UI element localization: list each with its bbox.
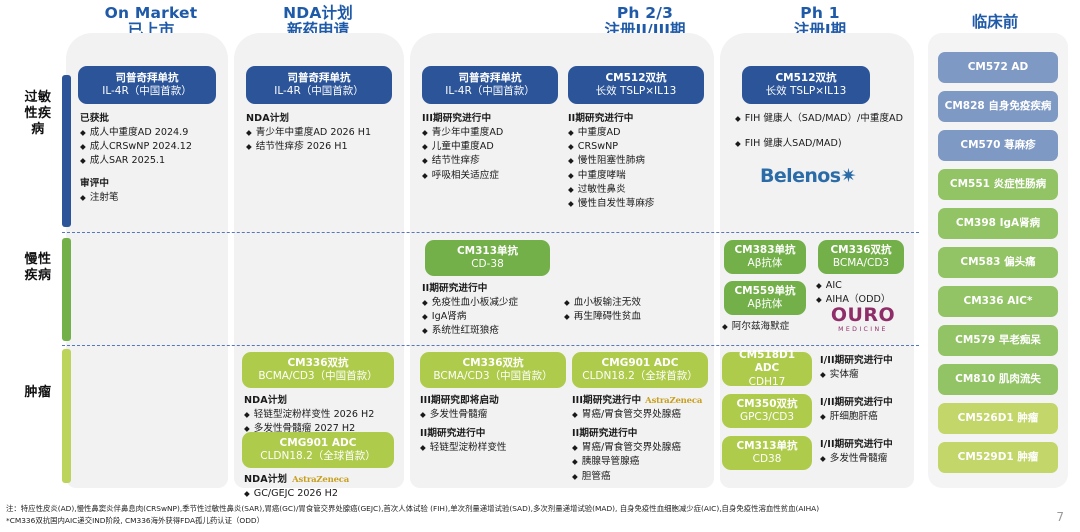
chip-name: CM383单抗: [734, 244, 795, 257]
detail-ph23-allergy-cm512: II期研究进行中 ◆中重度AD ◆CRSwNP ◆慢性阻塞性肺病 ◆中重度哮喘 …: [568, 110, 708, 211]
diamond-bullet-icon: ◆: [735, 112, 741, 125]
detail-nda-allergy: NDA计划 ◆青少年中重度AD 2026 H1 ◆结节性痒疹 2026 H1: [246, 110, 398, 154]
detail-ph23-tumor-cmg901: III期研究进行中 AstraZeneca ◆胃癌/胃食管交界处腺癌 II期研究…: [572, 392, 712, 484]
drug-chip-nda-allergy[interactable]: 司普奇拜单抗 IL-4R（中国首款）: [246, 66, 392, 104]
row-rail-allergy: [62, 75, 71, 227]
diamond-bullet-icon: ◆: [572, 441, 578, 454]
preclinical-item-6[interactable]: CM336 AIC*: [938, 286, 1058, 317]
chip-target: 长效 TSLP×IL13: [766, 85, 847, 98]
drug-chip-ph1-chronic-cm336[interactable]: CM336双抗 BCMA/CD3: [818, 240, 904, 274]
group-title: NDA计划: [246, 110, 398, 124]
chip-target: CD-38: [471, 258, 504, 271]
preclinical-label: CM828 自身免疫疾病: [945, 100, 1052, 113]
bullet-item: ◆结节性痒疹: [422, 154, 556, 168]
preclinical-label: CM570 荨麻疹: [960, 139, 1035, 152]
row-label-tumor: 肿瘤: [24, 385, 52, 401]
chip-target: IL-4R（中国首款）: [102, 85, 192, 98]
chip-target: CDH17: [749, 376, 786, 389]
chip-target: CLDN18.2（全球首款）: [582, 370, 698, 383]
diamond-bullet-icon: ◆: [422, 126, 428, 139]
chip-name: CM350双抗: [736, 398, 797, 411]
drug-chip-ph23-tumor-cmg901[interactable]: CMG901 ADC CLDN18.2（全球首款）: [572, 352, 708, 388]
ouro-medicine-logo: OURO MEDICINE: [816, 304, 910, 333]
detail-ph1-tumor-cm313: I/II期研究进行中 ◆多发性骨髓瘤: [820, 436, 912, 466]
bullet-item: ◆结节性痒疹 2026 H1: [246, 140, 398, 154]
detail-ph1-tumor-cm350: I/II期研究进行中 ◆肝细胞肝癌: [820, 394, 912, 424]
belenos-logo: Belenos✷: [760, 165, 880, 187]
astrazeneca-logo: AstraZeneca: [292, 475, 349, 485]
drug-chip-ph1-tumor-cm518d1[interactable]: CM518D1 ADC CDH17: [722, 352, 812, 386]
page-number: 7: [1056, 510, 1064, 524]
bullet-item: ◆CRSwNP: [568, 140, 708, 154]
chip-target: CLDN18.2（全球首款）: [260, 450, 376, 463]
column-header-cn: 临床前: [920, 14, 1070, 31]
ouro-logo-text: OURO: [816, 304, 910, 326]
preclinical-item-4[interactable]: CM398 IgA肾病: [938, 208, 1058, 239]
diamond-bullet-icon: ◆: [422, 140, 428, 153]
diamond-bullet-icon: ◆: [572, 408, 578, 421]
diamond-bullet-icon: ◆: [820, 368, 826, 381]
drug-chip-ph1-tumor-cm313[interactable]: CM313单抗 CD38: [722, 436, 812, 470]
belenos-burst-icon: ✷: [840, 165, 855, 187]
diamond-bullet-icon: ◆: [568, 183, 574, 196]
diamond-bullet-icon: ◆: [80, 140, 86, 153]
group-title: I/II期研究进行中: [820, 394, 912, 408]
chip-name: CM313单抗: [736, 440, 797, 453]
preclinical-item-1[interactable]: CM828 自身免疫疾病: [938, 91, 1058, 122]
preclinical-item-5[interactable]: CM583 偏头痛: [938, 247, 1058, 278]
preclinical-label: CM398 IgA肾病: [956, 217, 1040, 230]
bullet-item: ◆再生障碍性贫血: [564, 310, 694, 324]
detail-ph1-allergy: ◆FIH 健康人（SAD/MAD）/中重度AD ◆FIH 健康人SAD/MAD): [735, 112, 907, 151]
diamond-bullet-icon: ◆: [244, 487, 250, 500]
bullet-item: ◆多发性骨髓瘤: [820, 452, 912, 466]
chip-target: BCMA/CD3（中国首款）: [258, 370, 377, 383]
diamond-bullet-icon: ◆: [422, 169, 428, 182]
group-title: NDA计划: [244, 392, 400, 406]
bullet-item: ◆FIH 健康人SAD/MAD): [735, 137, 907, 151]
preclinical-item-10[interactable]: CM529D1 肿瘤: [938, 442, 1058, 473]
diamond-bullet-icon: ◆: [568, 197, 574, 210]
pipeline-slide: On Market 已上市 NDA计划 新药申请 Ph 2/3 注册II/III…: [0, 0, 1080, 532]
chip-name: CMG901 ADC: [602, 357, 679, 370]
diamond-bullet-icon: ◆: [80, 191, 86, 204]
footnote-line-1: 注：特应性皮炎(AD),慢性鼻窦炎伴鼻息肉(CRSwNP),季节性过敏性鼻炎(S…: [6, 503, 1006, 514]
drug-chip-ph1-chronic-cm559[interactable]: CM559单抗 Aβ抗体: [724, 281, 806, 315]
diamond-bullet-icon: ◆: [564, 310, 570, 323]
bullet-item: ◆胆管癌: [572, 470, 712, 484]
group-title: 已获批: [80, 110, 220, 124]
detail-ph23-tumor-cm336: III期研究即将启动 ◆多发性骨髓瘤 II期研究进行中 ◆轻链型淀粉样变性: [420, 392, 566, 455]
drug-chip-ph23-allergy-sipu[interactable]: 司普奇拜单抗 IL-4R（中国首款）: [422, 66, 558, 104]
preclinical-label: CM583 偏头痛: [960, 256, 1035, 269]
chip-target: IL-4R（中国首款）: [445, 85, 535, 98]
bullet-item: ◆肝细胞肝癌: [820, 410, 912, 424]
bullet-item: ◆胃癌/胃食管交界处腺癌: [572, 408, 712, 422]
preclinical-item-9[interactable]: CM526D1 肿瘤: [938, 403, 1058, 434]
diamond-bullet-icon: ◆: [572, 470, 578, 483]
bullet-item: ◆多发性骨髓瘤: [420, 408, 566, 422]
chip-target: Aβ抗体: [748, 298, 783, 311]
chip-name: CMG901 ADC: [280, 437, 357, 450]
chip-name: CM336双抗: [287, 357, 348, 370]
row-label-chronic: 慢性疾病: [24, 252, 52, 284]
bullet-item: ◆实体瘤: [820, 368, 912, 382]
row-separator-1: [62, 232, 919, 233]
chip-name: CM512双抗: [775, 72, 836, 85]
row-rail-tumor: [62, 349, 71, 483]
preclinical-item-7[interactable]: CM579 早老痴呆: [938, 325, 1058, 356]
drug-chip-ph23-chronic-cm313[interactable]: CM313单抗 CD-38: [425, 240, 550, 276]
bullet-item: ◆成人SAR 2025.1: [80, 154, 220, 168]
group-title: NDA计划: [244, 471, 287, 485]
preclinical-label: CM551 炎症性肠病: [950, 178, 1046, 191]
detail-ph23-allergy-sipu: III期研究进行中 ◆青少年中重度AD ◆儿童中重度AD ◆结节性痒疹 ◆呼吸相…: [422, 110, 556, 183]
diamond-bullet-icon: ◆: [820, 452, 826, 465]
preclinical-item-0[interactable]: CM572 AD: [938, 52, 1058, 83]
detail-nda-tumor-cm336: NDA计划 ◆轻链型淀粉样变性 2026 H2 ◆多发性骨髓瘤 2027 H2: [244, 392, 400, 436]
diamond-bullet-icon: ◆: [568, 154, 574, 167]
bullet-item: ◆轻链型淀粉样变性: [420, 441, 566, 455]
preclinical-label: CM529D1 肿瘤: [958, 451, 1039, 464]
diamond-bullet-icon: ◆: [816, 279, 822, 292]
bullet-item: ◆AIC: [816, 279, 910, 293]
diamond-bullet-icon: ◆: [246, 126, 252, 139]
bullet-item: ◆系统性红斑狼疮: [422, 324, 554, 338]
group-title: I/II期研究进行中: [820, 436, 912, 450]
bullet-item: ◆胰腺导管腺癌: [572, 455, 712, 469]
chip-target: IL-4R（中国首款）: [274, 85, 364, 98]
row-label-allergy: 过敏性疾病: [24, 90, 52, 138]
bullet-item: ◆过敏性鼻炎: [568, 183, 708, 197]
diamond-bullet-icon: ◆: [246, 140, 252, 153]
bullet-item: ◆注射笔: [80, 191, 220, 205]
diamond-bullet-icon: ◆: [568, 169, 574, 182]
bullet-item: ◆呼吸相关适应症: [422, 169, 556, 183]
detail-nda-tumor-cmg901: NDA计划 AstraZeneca ◆GC/GEJC 2026 H2: [244, 471, 400, 501]
preclinical-label: CM810 肌肉流失: [955, 373, 1041, 386]
footnote-line-2: *CM336双抗国内AIC递交IND阶段, CM336海外获得FDA孤儿药认证（…: [6, 515, 1006, 526]
bullet-item: ◆胃癌/胃食管交界处腺癌: [572, 441, 712, 455]
diamond-bullet-icon: ◆: [80, 154, 86, 167]
diamond-bullet-icon: ◆: [422, 324, 428, 337]
bullet-item: ◆慢性自发性荨麻疹: [568, 197, 708, 211]
bullet-item: ◆成人中重度AD 2024.9: [80, 126, 220, 140]
drug-chip-ph1-allergy-cm512[interactable]: CM512双抗 长效 TSLP×IL13: [742, 66, 870, 104]
bullet-item: ◆中重度AD: [568, 126, 708, 140]
chip-name: CM313单抗: [457, 245, 518, 258]
chip-target: BCMA/CD3（中国首款）: [433, 370, 552, 383]
bullet-item: ◆儿童中重度AD: [422, 140, 556, 154]
bullet-item: ◆GC/GEJC 2026 H2: [244, 487, 400, 501]
diamond-bullet-icon: ◆: [820, 410, 826, 423]
diamond-bullet-icon: ◆: [420, 408, 426, 421]
chip-target: GPC3/CD3: [740, 411, 794, 424]
column-header-en: Ph 2/3: [560, 5, 730, 22]
bullet-item: ◆成人CRSwNP 2024.12: [80, 140, 220, 154]
diamond-bullet-icon: ◆: [422, 296, 428, 309]
row-rail-chronic: [62, 238, 71, 341]
footnote: 注：特应性皮炎(AD),慢性鼻窦炎伴鼻息肉(CRSwNP),季节性过敏性鼻炎(S…: [6, 503, 1006, 526]
detail-ph1-tumor-cm518d1: I/II期研究进行中 ◆实体瘤: [820, 352, 912, 382]
group-title: III期研究即将启动: [420, 392, 566, 406]
diamond-bullet-icon: ◆: [568, 126, 574, 139]
bullet-item: ◆免疫性血小板减少症: [422, 296, 554, 310]
chip-name: CM559单抗: [734, 285, 795, 298]
diamond-bullet-icon: ◆: [564, 296, 570, 309]
column-header-en: On Market: [66, 5, 236, 22]
astrazeneca-logo: AstraZeneca: [645, 396, 702, 406]
group-title: II期研究进行中: [422, 280, 707, 294]
diamond-bullet-icon: ◆: [420, 441, 426, 454]
diamond-bullet-icon: ◆: [572, 455, 578, 468]
chip-name: 司普奇拜单抗: [116, 72, 179, 85]
diamond-bullet-icon: ◆: [422, 310, 428, 323]
drug-chip-ph23-tumor-cm336[interactable]: CM336双抗 BCMA/CD3（中国首款）: [420, 352, 566, 388]
bullet-item: ◆中重度哮喘: [568, 169, 708, 183]
chip-name: CM512双抗: [605, 72, 666, 85]
chip-name: 司普奇拜单抗: [459, 72, 522, 85]
preclinical-item-2[interactable]: CM570 荨麻疹: [938, 130, 1058, 161]
preclinical-label: CM336 AIC*: [964, 295, 1033, 308]
diamond-bullet-icon: ◆: [80, 126, 86, 139]
bullet-item: ◆慢性阻塞性肺病: [568, 154, 708, 168]
drug-chip-ph1-tumor-cm350[interactable]: CM350双抗 GPC3/CD3: [722, 394, 812, 428]
diamond-bullet-icon: ◆: [722, 320, 728, 333]
preclinical-label: CM526D1 肿瘤: [958, 412, 1039, 425]
group-title: II期研究进行中: [568, 110, 708, 124]
preclinical-item-8[interactable]: CM810 肌肉流失: [938, 364, 1058, 395]
bullet-item: ◆青少年中重度AD 2026 H1: [246, 126, 398, 140]
column-header-en: Ph 1: [735, 5, 905, 22]
diamond-bullet-icon: ◆: [568, 140, 574, 153]
group-title: I/II期研究进行中: [820, 352, 912, 366]
bullet-item: ◆FIH 健康人（SAD/MAD）/中重度AD: [735, 112, 907, 126]
group-title: 审评中: [80, 175, 220, 189]
diamond-bullet-icon: ◆: [244, 408, 250, 421]
drug-chip-onmarket-allergy[interactable]: 司普奇拜单抗 IL-4R（中国首款）: [78, 66, 216, 104]
chip-name: 司普奇拜单抗: [288, 72, 351, 85]
chip-target: 长效 TSLP×IL13: [596, 85, 677, 98]
preclinical-item-3[interactable]: CM551 炎症性肠病: [938, 169, 1058, 200]
group-title: III期研究进行中: [572, 392, 641, 406]
chip-target: BCMA/CD3: [833, 257, 889, 270]
preclinical-label: CM572 AD: [968, 61, 1029, 74]
bullet-item: ◆青少年中重度AD: [422, 126, 556, 140]
bullet-item: ◆IgA肾病: [422, 310, 554, 324]
drug-chip-nda-tumor-cmg901[interactable]: CMG901 ADC CLDN18.2（全球首款）: [242, 432, 394, 468]
belenos-logo-text: Belenos: [760, 165, 840, 187]
row-separator-2: [62, 345, 919, 346]
group-title: II期研究进行中: [420, 425, 566, 439]
drug-chip-nda-tumor-cm336[interactable]: CM336双抗 BCMA/CD3（中国首款）: [242, 352, 394, 388]
preclinical-label: CM579 早老痴呆: [955, 334, 1041, 347]
chip-target: Aβ抗体: [748, 257, 783, 270]
drug-chip-ph1-chronic-cm383[interactable]: CM383单抗 Aβ抗体: [724, 240, 806, 274]
bullet-item: ◆轻链型淀粉样变性 2026 H2: [244, 408, 400, 422]
detail-onmarket-allergy: 已获批 ◆成人中重度AD 2024.9 ◆成人CRSwNP 2024.12 ◆成…: [80, 110, 220, 205]
bullet-item: ◆阿尔兹海默症: [722, 320, 818, 334]
column-header-en: NDA计划: [233, 5, 403, 22]
group-title: III期研究进行中: [422, 110, 556, 124]
detail-ph23-chronic: II期研究进行中 ◆免疫性血小板减少症 ◆IgA肾病 ◆系统性红斑狼疮 ◆血小板…: [422, 280, 707, 339]
detail-ph1-chronic-ab: ◆阿尔兹海默症: [722, 320, 818, 334]
chip-name: CM518D1 ADC: [726, 349, 808, 375]
diamond-bullet-icon: ◆: [735, 137, 741, 150]
chip-name: CM336双抗: [462, 357, 523, 370]
drug-chip-ph23-allergy-cm512[interactable]: CM512双抗 长效 TSLP×IL13: [568, 66, 704, 104]
column-header-preclinical: 临床前: [920, 14, 1070, 31]
ouro-logo-subtext: MEDICINE: [816, 326, 910, 333]
group-title: II期研究进行中: [572, 425, 712, 439]
chip-target: CD38: [753, 453, 782, 466]
diamond-bullet-icon: ◆: [422, 154, 428, 167]
bullet-item: ◆血小板输注无效: [564, 296, 694, 310]
chip-name: CM336双抗: [830, 244, 891, 257]
